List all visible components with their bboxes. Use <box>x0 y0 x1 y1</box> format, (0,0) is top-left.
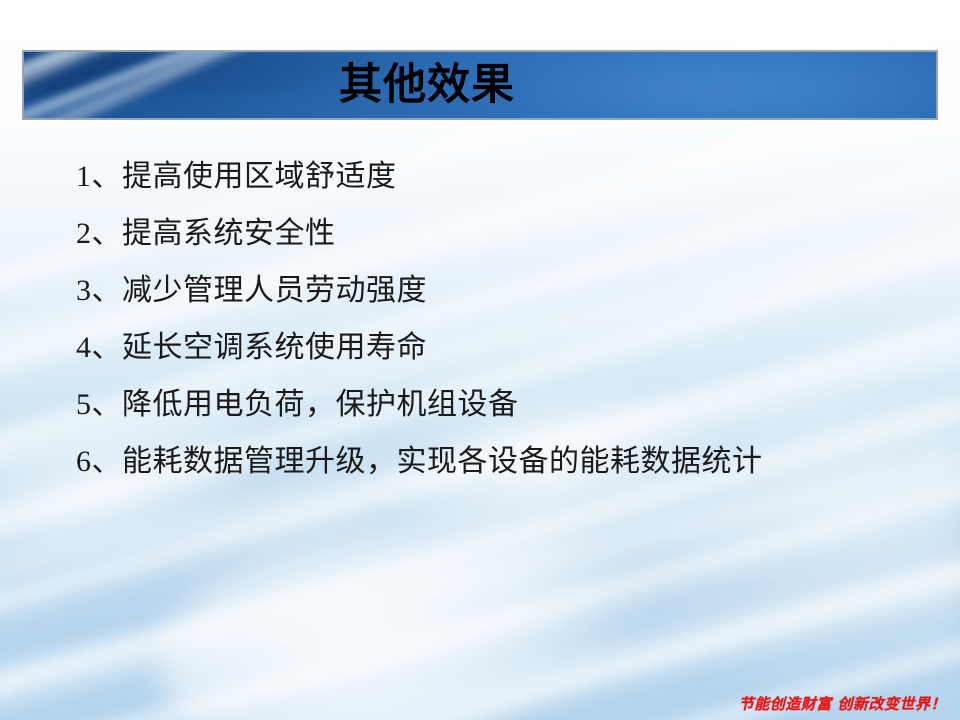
bullet-item-5: 5、降低用电负荷，保护机组设备 <box>76 376 916 433</box>
bullet-item-2: 2、提高系统安全性 <box>76 205 916 262</box>
bullet-list: 1、提高使用区域舒适度 2、提高系统安全性 3、减少管理人员劳动强度 4、延长空… <box>76 148 916 490</box>
bullet-item-6: 6、能耗数据管理升级，实现各设备的能耗数据统计 <box>76 433 916 490</box>
bullet-item-3: 3、减少管理人员劳动强度 <box>76 262 916 319</box>
slide-title: 其他效果 <box>24 52 936 118</box>
presentation-slide: 其他效果 1、提高使用区域舒适度 2、提高系统安全性 3、减少管理人员劳动强度 … <box>0 0 960 720</box>
footer-slogan: 节能创造财富 创新改变世界！ <box>739 693 946 714</box>
bullet-item-4: 4、延长空调系统使用寿命 <box>76 319 916 376</box>
bullet-item-1: 1、提高使用区域舒适度 <box>76 148 916 205</box>
title-banner: 其他效果 <box>22 50 938 120</box>
